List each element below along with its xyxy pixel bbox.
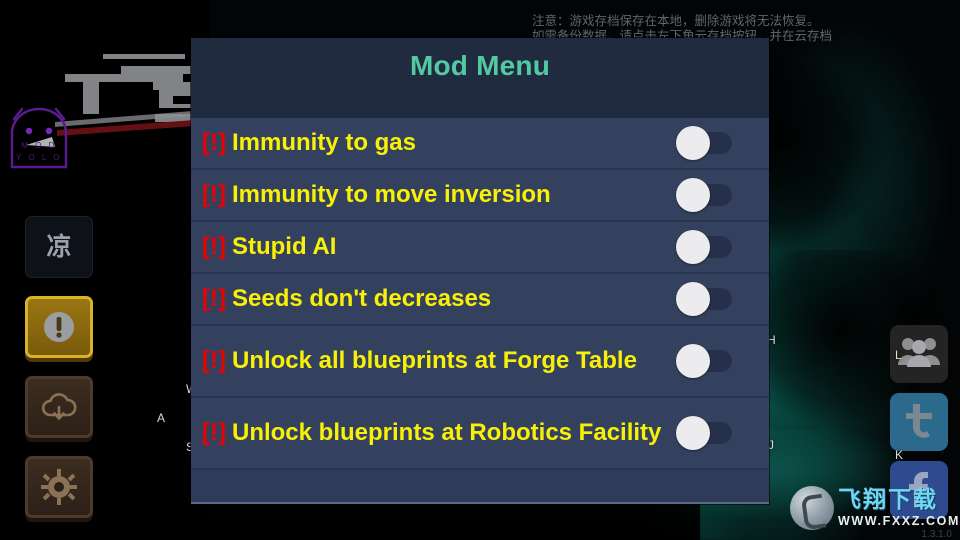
cloud-download-icon [28,379,90,435]
modyolo-line2: Y O L O [8,153,70,162]
list-item[interactable]: [!]Immunity to move inversion [191,170,769,222]
toggle-switch[interactable] [680,236,732,258]
mod-label-text: Immunity to move inversion [232,181,551,208]
watermark-url: WWW.FXXZ.COM [838,515,960,528]
list-item[interactable]: [!]Stupid AI [191,222,769,274]
mod-label-text: Unlock all blueprints at Forge Table [232,347,637,374]
list-item[interactable]: [!]Immunity to gas [191,118,769,170]
version-label: 1.3.1.0 [921,529,952,540]
mod-menu-header: Mod Menu [191,38,769,118]
mod-menu-list: [!]Immunity to gas [!]Immunity to move i… [191,118,769,470]
notice-line-1: 注意：游戏存档保存在本地，删除游戏将无法恢复。 [532,13,952,28]
key-hint-k: K [895,448,903,462]
toggle-knob [676,416,710,450]
cloud-button[interactable] [25,376,93,438]
site-watermark: 飞翔下载 WWW.FXXZ.COM [790,482,956,534]
toggle-knob [676,344,710,378]
key-hint-l: L [895,348,902,362]
game-screen: M O D Y O L O 注意：游戏存档保存在本地，删除游戏将无法恢复。 如需… [0,0,960,540]
warning-bang: [!] [202,129,226,156]
list-item[interactable]: [!]Unlock blueprints at Robotics Facilit… [191,398,769,470]
toggle-knob [676,230,710,264]
watermark-cn: 飞翔下载 [838,489,960,512]
mod-row-label: [!]Unlock blueprints at Robotics Facilit… [202,415,680,451]
mod-row-label: [!]Seeds don't decreases [202,281,680,317]
watermark-texts: 飞翔下载 WWW.FXXZ.COM [838,489,960,528]
mod-label-text: Stupid AI [232,233,336,260]
alert-button[interactable] [25,296,93,358]
settings-button[interactable] [25,456,93,518]
mod-label-text: Immunity to gas [232,129,416,156]
modyolo-watermark: M O D Y O L O [8,103,70,171]
chinese-tile[interactable]: 凉 [25,216,93,278]
mod-row-label: [!]Immunity to move inversion [202,177,680,213]
mod-row-label: [!]Immunity to gas [202,125,680,161]
toggle-knob [676,126,710,160]
toggle-knob [676,282,710,316]
toggle-switch[interactable] [680,132,732,154]
mod-row-label: [!]Stupid AI [202,229,680,265]
warning-bang: [!] [202,347,226,374]
toggle-knob [676,178,710,212]
mod-menu-panel: Mod Menu [!]Immunity to gas [!]Immunity … [191,38,769,504]
mod-label-text: Seeds don't decreases [232,285,491,312]
list-item[interactable]: [!]Seeds don't decreases [191,274,769,326]
twitter-icon [902,402,936,443]
toggle-switch[interactable] [680,184,732,206]
page-title: Mod Menu [410,50,550,82]
exclamation-circle-icon [28,299,90,355]
warning-bang: [!] [202,419,226,446]
list-item[interactable]: [!]Unlock all blueprints at Forge Table [191,326,769,398]
warning-bang: [!] [202,285,226,312]
warning-bang: [!] [202,181,226,208]
toggle-switch[interactable] [680,350,732,372]
mod-row-label: [!]Unlock all blueprints at Forge Table [202,343,680,379]
people-icon [897,335,941,374]
key-hint-a: A [157,411,165,425]
mod-label-text: Unlock blueprints at Robotics Facility [232,419,661,446]
modyolo-line1: M O D [8,141,70,150]
fxxz-logo-icon [790,486,834,530]
twitter-button[interactable] [890,393,948,451]
warning-bang: [!] [202,233,226,260]
toggle-switch[interactable] [680,422,732,444]
panel-bottom-edge [191,502,769,504]
gear-icon [28,459,90,515]
toggle-switch[interactable] [680,288,732,310]
